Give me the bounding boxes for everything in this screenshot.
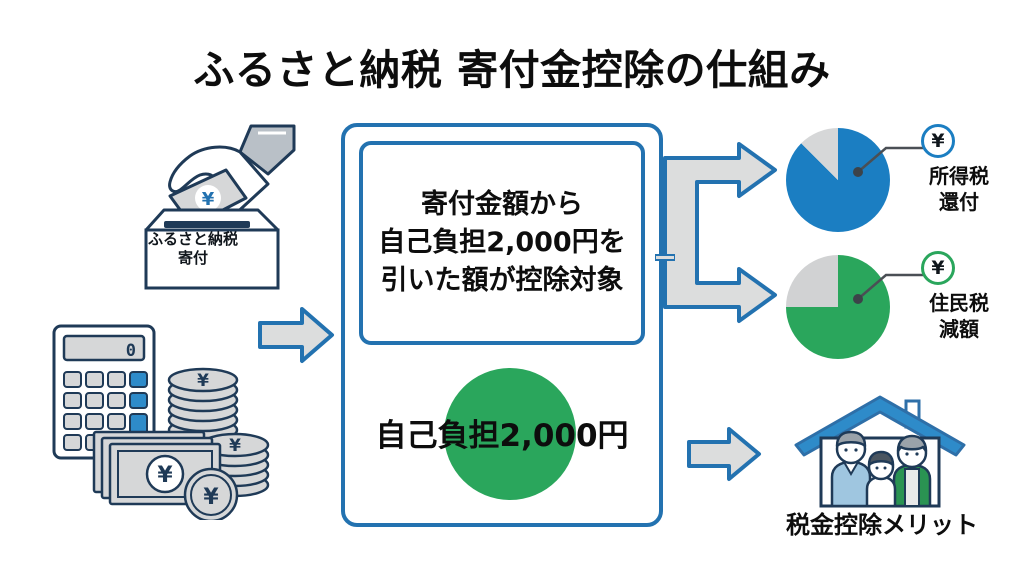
svg-text:¥: ¥ xyxy=(157,463,173,488)
arrow-right-icon xyxy=(687,425,763,483)
page-title: ふるさと納税 寄付金控除の仕組み xyxy=(0,36,1024,96)
benefit-label: 税金控除メリット xyxy=(748,505,1016,540)
resident-tax-yen-badge: ¥ xyxy=(921,251,955,285)
arrow-branch-stem xyxy=(655,248,675,267)
donation-box-label: ふるさと納税 寄付 xyxy=(108,230,278,268)
resident-tax-block: ¥ 住民税 減額 xyxy=(786,255,1024,367)
deduction-text-line3: 引いた額が控除対象 xyxy=(378,262,625,300)
house-family-graphic xyxy=(790,395,970,513)
connector-line-icon xyxy=(655,253,675,263)
arrow-to-benefit xyxy=(687,425,763,487)
income-tax-yen-badge: ¥ xyxy=(921,124,955,158)
self-pay-label: 自己負担2,000円 xyxy=(347,410,657,455)
donation-box-icon: ¥ ふるさと納税 寄付 xyxy=(108,122,298,292)
deduction-text-line2: 自己負担2,000円を xyxy=(378,224,625,262)
deduction-inner-box: 寄付金額から 自己負担2,000円を 引いた額が控除対象 xyxy=(359,141,645,345)
arrow-branch-to-pies xyxy=(663,140,785,329)
svg-text:¥: ¥ xyxy=(202,189,215,210)
svg-text:¥: ¥ xyxy=(203,485,219,510)
arrow-branch-icon xyxy=(663,140,785,325)
income-tax-block: ¥ 所得税 還付 xyxy=(786,128,1024,240)
income-tax-label-line1: 所得税 xyxy=(904,164,1014,190)
donation-box-label-line2: 寄付 xyxy=(108,249,278,268)
income-tax-label: 所得税 還付 xyxy=(904,164,1014,215)
deduction-text-line1: 寄付金額から xyxy=(378,186,625,224)
resident-tax-label: 住民税 減額 xyxy=(904,291,1014,342)
arrow-right-icon xyxy=(258,305,336,365)
svg-text:¥: ¥ xyxy=(229,436,241,456)
svg-text:¥: ¥ xyxy=(197,371,209,391)
donation-box-label-line1: ふるさと納税 xyxy=(108,230,278,249)
resident-tax-label-line1: 住民税 xyxy=(904,291,1014,317)
arrow-left-to-center xyxy=(258,305,336,369)
deduction-text: 寄付金額から 自己負担2,000円を 引いた額が控除対象 xyxy=(378,186,625,301)
self-pay-group: 自己負担2,000円 xyxy=(359,360,645,510)
house-family-icon xyxy=(790,395,970,513)
resident-tax-label-line2: 減額 xyxy=(904,317,1014,343)
svg-text:0: 0 xyxy=(126,341,136,361)
income-tax-label-line2: 還付 xyxy=(904,190,1014,216)
